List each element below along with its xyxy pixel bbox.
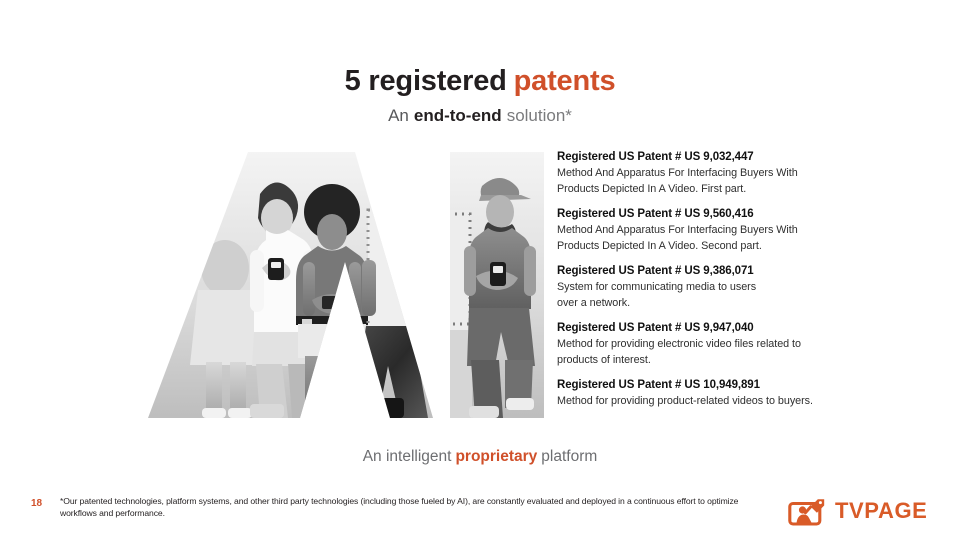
subtitle-emphasis: end-to-end (414, 106, 502, 125)
subtitle-part3: solution* (507, 106, 572, 125)
patent-list: Registered US Patent # US 9,032,447 Meth… (557, 150, 907, 409)
person-afro (296, 184, 368, 418)
patent-description-line: Method for providing electronic video fi… (557, 336, 907, 352)
tvpage-frame-person-tag-icon (788, 496, 828, 526)
footnote-text: *Our patented technologies, platform sys… (60, 496, 740, 519)
patent-heading: Registered US Patent # US 9,560,416 (557, 207, 907, 222)
patent-description-line: Products Depicted In A Video. Second par… (557, 238, 907, 254)
caption-part3: platform (541, 448, 597, 465)
patent-description-line: Method And Apparatus For Interfacing Buy… (557, 165, 907, 181)
patent-heading: Registered US Patent # US 9,386,071 (557, 264, 907, 279)
patent-item: Registered US Patent # US 10,949,891 Met… (557, 378, 907, 409)
patent-description-line: over a network. (557, 295, 907, 311)
patent-item: Registered US Patent # US 9,032,447 Meth… (557, 150, 907, 197)
caption-accent: proprietary (455, 448, 537, 465)
patent-description-line: System for communicating media to users (557, 279, 907, 295)
subtitle-part1: An (388, 106, 409, 125)
page-title: 5 registeredpatents (0, 64, 960, 98)
patent-description-line: products of interest. (557, 352, 907, 368)
patent-heading: Registered US Patent # US 9,947,040 (557, 321, 907, 336)
tvpage-wordmark: TVPAGE (835, 500, 927, 522)
patent-item: Registered US Patent # US 9,947,040 Meth… (557, 321, 907, 368)
patent-item: Registered US Patent # US 9,386,071 Syst… (557, 264, 907, 311)
patent-heading: Registered US Patent # US 10,949,891 (557, 378, 907, 393)
page-title-part1: 5 registered (345, 65, 507, 97)
letter-a-photo-svg (140, 150, 550, 420)
right-photo-panel (448, 150, 550, 420)
panel-person-partial (448, 210, 472, 418)
patent-item: Registered US Patent # US 9,560,416 Meth… (557, 207, 907, 254)
photo-collage (140, 150, 550, 420)
letter-a-mask-group (140, 150, 440, 420)
patent-description-line: Method And Apparatus For Interfacing Buy… (557, 222, 907, 238)
page-subtitle: Anend-to-endsolution* (0, 105, 960, 127)
caption-part1: An intelligent (363, 448, 452, 465)
tvpage-logo: TVPAGE (788, 492, 938, 530)
patent-description-line: Method for providing product-related vid… (557, 393, 907, 409)
patent-heading: Registered US Patent # US 9,032,447 (557, 150, 907, 165)
patent-description-line: Products Depicted In A Video. First part… (557, 181, 907, 197)
page-title-accent: patents (514, 65, 616, 97)
page-number: 18 (31, 498, 42, 510)
bottom-caption: An intelligentproprietaryplatform (0, 447, 960, 467)
slide-canvas: 5 registeredpatents Anend-to-endsolution… (0, 0, 960, 540)
